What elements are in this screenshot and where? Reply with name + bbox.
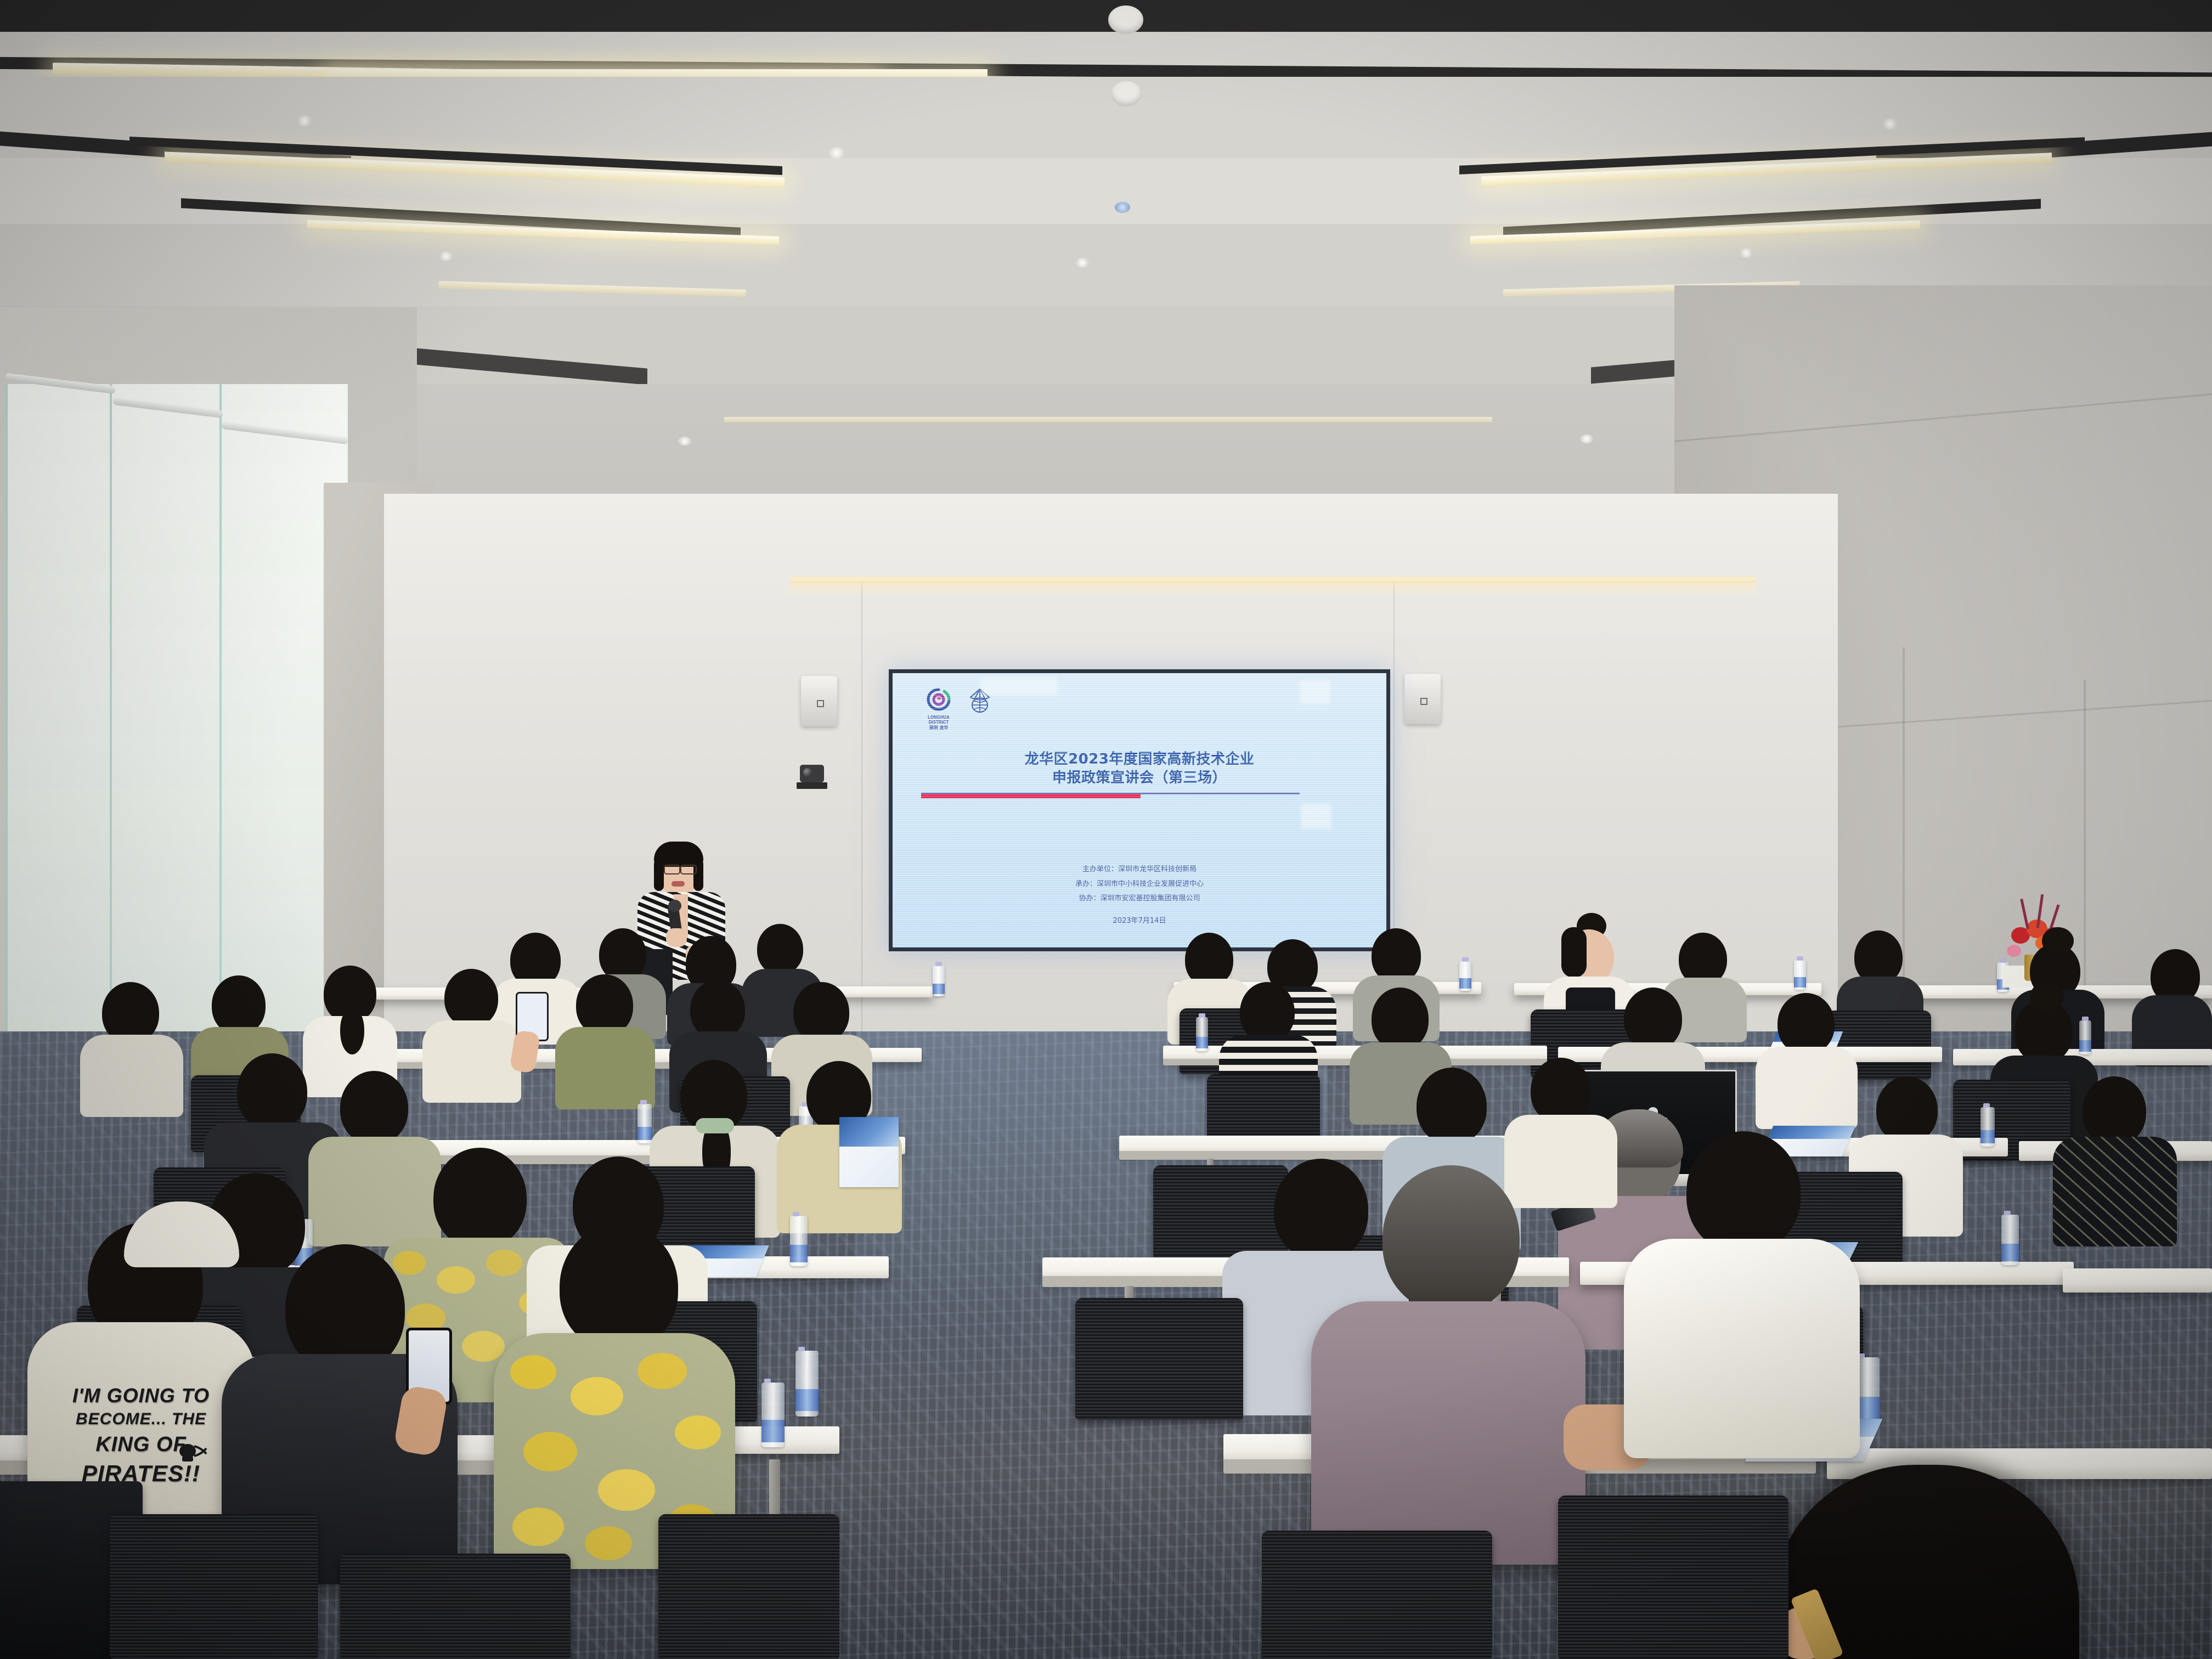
attendee-head	[1274, 1159, 1368, 1261]
attendee-head	[690, 980, 745, 1039]
wall-cove-light	[790, 577, 1756, 596]
water-bottle	[2001, 1215, 2019, 1265]
water-bottle	[795, 1351, 819, 1417]
chair	[1075, 1298, 1243, 1420]
screen-glare	[980, 678, 1057, 695]
attendee-head	[1240, 982, 1295, 1042]
ceiling-downlight	[439, 251, 453, 261]
projection-screen: LONGHUA DISTRICT 深圳 龙华 龙华区2023年度国家高新技术企业…	[889, 669, 1390, 951]
jbl-speaker-icon	[1404, 674, 1441, 724]
desk	[2063, 1268, 2212, 1293]
water-bottle	[1196, 1017, 1208, 1051]
sprinkler-head-icon	[1111, 81, 1142, 106]
attendee-head	[340, 1071, 408, 1144]
attendee-body	[555, 1027, 655, 1109]
skull-icon	[174, 1442, 208, 1467]
attendee-body	[1504, 1115, 1617, 1208]
attendee-head	[212, 975, 266, 1035]
slide-credits: 主办单位：深圳市龙华区科技创新局 承办：深圳市中小科技企业发展促进中心 协办：深…	[893, 862, 1386, 906]
water-bottle	[637, 1104, 652, 1143]
presenter-glasses	[664, 865, 680, 874]
ceiling-indicator-light	[1115, 202, 1130, 213]
water-bottle	[790, 1216, 808, 1266]
hair-bun	[2030, 982, 2064, 1012]
water-bottle	[2079, 1020, 2091, 1054]
slide-title-line2: 申报政策宣讲会（第三场）	[893, 769, 1386, 787]
tshirt-line-2: BECOME... THE	[27, 1409, 255, 1429]
tshirt-line-3: KING OF	[27, 1432, 255, 1458]
chair	[1262, 1531, 1492, 1659]
attendee-head	[793, 982, 849, 1042]
slide-coorganizer: 协办：深圳市安宏基控股集团有限公司	[893, 891, 1386, 906]
attendee-head	[599, 928, 646, 981]
attendee-head	[560, 1223, 678, 1351]
logo-en-text: LONGHUA DISTRICT	[925, 715, 952, 725]
attendee-head	[2083, 1076, 2146, 1145]
ceiling-downlight	[678, 437, 691, 445]
attendee-body-floral	[308, 1137, 441, 1246]
logo-cn-text: 深圳 龙华	[924, 725, 953, 731]
hair-bun	[2042, 927, 2074, 955]
ptz-camera-icon	[800, 765, 824, 782]
flower	[2007, 945, 2021, 957]
longhua-swirl-icon	[926, 687, 951, 712]
hair-scrunchie	[696, 1118, 734, 1133]
attendee-body	[80, 1035, 183, 1117]
attendee-head-grey	[1383, 1165, 1520, 1312]
attendee-head	[1624, 988, 1682, 1050]
slide-date: 2023年7月14日	[893, 915, 1386, 925]
slide-title: 龙华区2023年度国家高新技术企业 申报政策宣讲会（第三场）	[893, 750, 1386, 788]
chair	[658, 1514, 839, 1659]
attendee-body	[422, 1020, 521, 1103]
attendee-body-dotted	[2053, 1137, 2177, 1246]
camera-shelf	[797, 782, 827, 789]
ceiling-downlight	[1882, 119, 1898, 129]
attendee-head	[237, 1053, 307, 1130]
ponytail	[340, 1008, 364, 1054]
slide-rule-red	[921, 794, 1141, 798]
attendee-head	[1372, 928, 1421, 983]
chair	[1558, 1496, 1788, 1659]
attendee-head	[1531, 1058, 1591, 1124]
water-bottle	[1980, 1107, 1995, 1147]
longhua-district-logo: LONGHUA DISTRICT 深圳 龙华	[924, 687, 953, 731]
smoke-detector-icon	[1108, 5, 1143, 34]
attendee-body	[1756, 1047, 1858, 1129]
screen-glare	[1300, 680, 1330, 704]
attendee-head	[444, 969, 498, 1027]
attendee-body	[1311, 1301, 1585, 1565]
ceiling-downlight	[1075, 258, 1090, 268]
slide-content: LONGHUA DISTRICT 深圳 龙华 龙华区2023年度国家高新技术企业…	[893, 673, 1386, 947]
attendee-head	[757, 924, 803, 974]
attendee-body	[1624, 1239, 1860, 1458]
attendee-head	[1876, 1076, 1938, 1143]
ceiling-downlight	[296, 115, 313, 126]
water-bottle	[1459, 961, 1471, 991]
blue-brochure	[839, 1117, 899, 1187]
chair	[1153, 1165, 1288, 1260]
water-bottle	[933, 966, 945, 996]
presenter-hand	[666, 928, 687, 947]
seminar-room-photo: LONGHUA DISTRICT 深圳 龙华 龙华区2023年度国家高新技术企业…	[0, 0, 2212, 1659]
chair	[110, 1514, 318, 1659]
ceiling-downlight	[827, 147, 846, 159]
ceiling-downlight	[1739, 248, 1753, 258]
ceiling-downlight	[1580, 435, 1593, 443]
slide-organizer: 主办单位：深圳市龙华区科技创新局	[893, 862, 1386, 877]
attendee-head	[1686, 1131, 1801, 1253]
attendee-head	[1778, 993, 1835, 1054]
slide-undertaker: 承办：深圳市中小科技企业发展促进中心	[893, 877, 1386, 892]
tshirt-line-1: I'M GOING TO	[27, 1384, 255, 1407]
water-bottle	[1794, 960, 1806, 990]
chair	[340, 1554, 571, 1659]
slide-title-line1: 龙华区2023年度国家高新技术企业	[893, 750, 1386, 769]
jbl-speaker-icon	[801, 676, 837, 726]
attendee-head	[1417, 1068, 1487, 1144]
attendee-head	[433, 1148, 527, 1249]
glass-partition-wall	[5, 384, 346, 1031]
attendee-head	[1372, 988, 1429, 1050]
screen-glare	[1301, 804, 1331, 829]
water-bottle	[761, 1383, 785, 1447]
